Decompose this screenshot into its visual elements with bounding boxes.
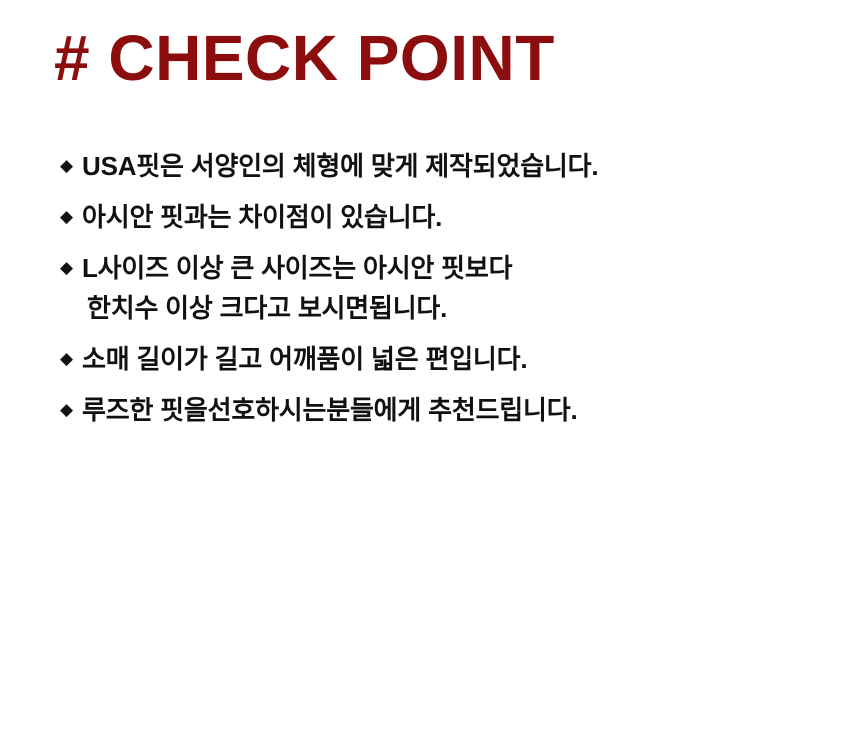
diamond-bullet-icon: ◆ [60, 248, 82, 288]
diamond-bullet-icon: ◆ [60, 339, 82, 379]
page-title: # CHECK POINT [54, 22, 555, 94]
list-item-line: ◆ 소매 길이가 길고 어깨품이 넓은 편입니다. [60, 339, 820, 379]
list-item: ◆ 아시안 핏과는 차이점이 있습니다. [60, 197, 820, 237]
list-item: ◆ 소매 길이가 길고 어깨품이 넓은 편입니다. [60, 339, 820, 379]
list-item-text: 루즈한 핏을선호하시는분들에게 추천드립니다. [82, 390, 577, 430]
list-item: ◆ L사이즈 이상 큰 사이즈는 아시안 핏보다 ◆ 한치수 이상 크다고 보시… [60, 248, 820, 328]
list-item-text: 한치수 이상 크다고 보시면됩니다. [82, 288, 447, 328]
list-item-line: ◆ 아시안 핏과는 차이점이 있습니다. [60, 197, 820, 237]
diamond-bullet-icon: ◆ [60, 146, 82, 186]
list-item-line: ◆ 루즈한 핏을선호하시는분들에게 추천드립니다. [60, 390, 820, 430]
list-item-line: ◆ USA핏은 서양인의 체형에 맞게 제작되었습니다. [60, 146, 820, 186]
list-item-line-continuation: ◆ 한치수 이상 크다고 보시면됩니다. [60, 288, 820, 328]
check-point-page: # CHECK POINT ◆ USA핏은 서양인의 체형에 맞게 제작되었습니… [0, 0, 860, 750]
list-item-text: 아시안 핏과는 차이점이 있습니다. [82, 197, 442, 237]
check-point-list: ◆ USA핏은 서양인의 체형에 맞게 제작되었습니다. ◆ 아시안 핏과는 차… [60, 146, 820, 441]
list-item-text: L사이즈 이상 큰 사이즈는 아시안 핏보다 [82, 248, 512, 288]
diamond-bullet-icon: ◆ [60, 197, 82, 237]
list-item-text: USA핏은 서양인의 체형에 맞게 제작되었습니다. [82, 146, 598, 186]
list-item: ◆ USA핏은 서양인의 체형에 맞게 제작되었습니다. [60, 146, 820, 186]
list-item: ◆ 루즈한 핏을선호하시는분들에게 추천드립니다. [60, 390, 820, 430]
diamond-bullet-icon: ◆ [60, 390, 82, 430]
list-item-text: 소매 길이가 길고 어깨품이 넓은 편입니다. [82, 339, 527, 379]
list-item-line: ◆ L사이즈 이상 큰 사이즈는 아시안 핏보다 [60, 248, 820, 288]
